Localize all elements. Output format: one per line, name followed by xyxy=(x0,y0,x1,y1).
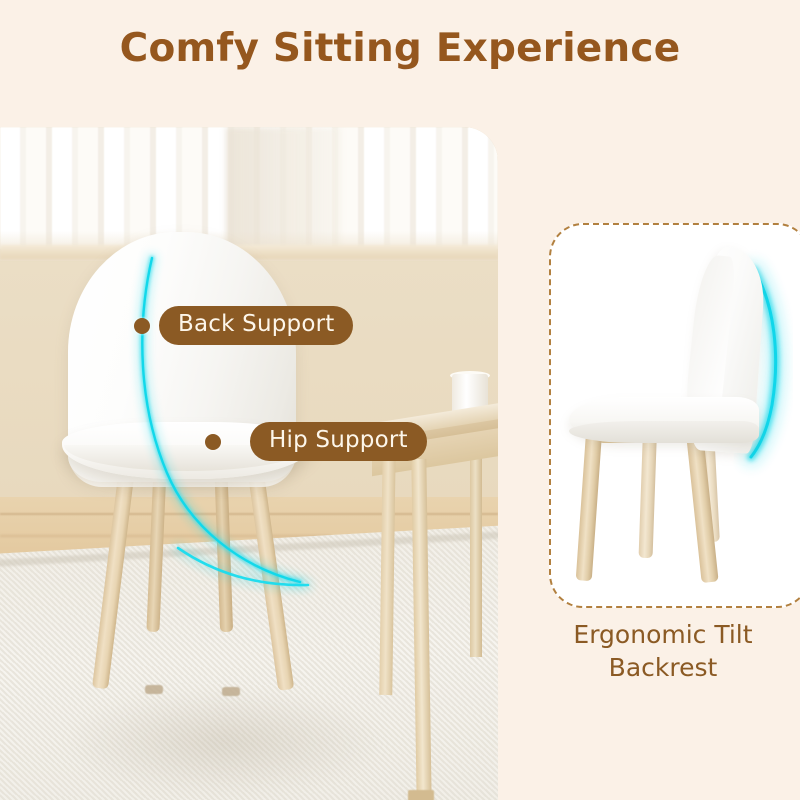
chair-leg-front-left xyxy=(92,459,136,689)
photo-inner: LA MO xyxy=(0,127,498,800)
callout-hip-support-label: Hip Support xyxy=(250,422,427,461)
inset-chair-leg-front-left xyxy=(576,432,602,581)
chair-leg-foot xyxy=(145,685,163,694)
callout-back-support[interactable]: Back Support xyxy=(134,306,353,345)
inset-detail-panel xyxy=(549,223,800,608)
callout-dot-icon xyxy=(205,434,221,450)
product-photo-panel: LA MO xyxy=(0,127,498,800)
callout-dot-icon xyxy=(134,318,150,334)
callout-hip-support[interactable]: Hip Support xyxy=(205,422,427,461)
callout-back-support-label: Back Support xyxy=(159,306,353,345)
inset-chair-leg-back-left xyxy=(639,430,657,558)
chair-leg-front-right xyxy=(246,459,294,691)
chair-main xyxy=(0,127,498,800)
page-title: Comfy Sitting Experience xyxy=(0,26,800,71)
inset-chair-seat-edge xyxy=(569,421,759,443)
chair-leg-foot xyxy=(222,687,240,696)
inset-caption: Ergonomic Tilt Backrest xyxy=(528,619,798,684)
inset-chair-side-view xyxy=(551,225,800,606)
inset-caption-line-2: Backrest xyxy=(528,652,798,685)
inset-caption-line-1: Ergonomic Tilt xyxy=(528,619,798,652)
